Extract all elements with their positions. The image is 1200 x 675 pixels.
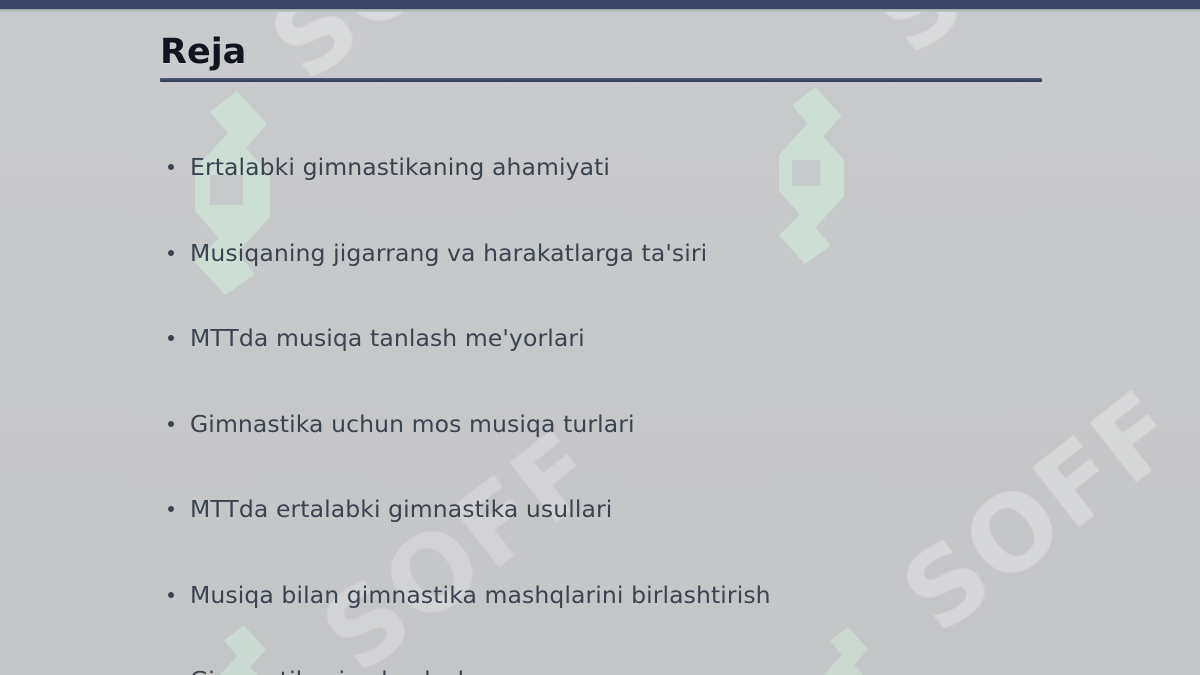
list-item-label: MTTda ertalabki gimnastika usullari [190, 494, 1166, 524]
page-title: Reja [160, 30, 246, 74]
list-item: MTTda ertalabki gimnastika usullari [166, 494, 1166, 580]
list-item: MTTda musiqa tanlash me'yorlari [166, 323, 1166, 409]
list-item-label: Gimnastika uchun mos musiqa turlari [190, 409, 1166, 439]
slide-canvas: SOFF SOFF SOFF SOFF Reja Ertalabki gimna… [0, 0, 1200, 675]
bullet-dot-icon [168, 506, 174, 512]
bullet-dot-icon [168, 164, 174, 170]
list-item: Gimnastika uchun mos musiqa turlari [166, 409, 1166, 495]
soff-text-watermark: SOFF [248, 0, 570, 104]
bullet-dot-icon [168, 250, 174, 256]
bullet-dot-icon [168, 335, 174, 341]
list-item: Musiqaning jigarrang va harakatlarga ta'… [166, 238, 1166, 324]
list-item-label: Ertalabki gimnastikaning ahamiyati [190, 152, 1166, 182]
bullet-dot-icon [168, 592, 174, 598]
list-item-label: Musiqa bilan gimnastika mashqlarini birl… [190, 580, 1166, 610]
list-item: Ertalabki gimnastikaning ahamiyati [166, 152, 1166, 238]
list-item-label: Musiqaning jigarrang va harakatlarga ta'… [190, 238, 1166, 268]
list-item-label: Gimnastikani yakunlash [190, 665, 1166, 675]
top-accent-bar [0, 0, 1200, 9]
agenda-list: Ertalabki gimnastikaning ahamiyati Musiq… [166, 152, 1166, 675]
top-accent-underline [0, 9, 1200, 12]
title-divider-rule [160, 78, 1042, 82]
list-item-label: MTTda musiqa tanlash me'yorlari [190, 323, 1166, 353]
title-block: Reja [160, 30, 246, 74]
bullet-dot-icon [168, 421, 174, 427]
list-item: Musiqa bilan gimnastika mashqlarini birl… [166, 580, 1166, 666]
list-item: Gimnastikani yakunlash [166, 665, 1166, 675]
